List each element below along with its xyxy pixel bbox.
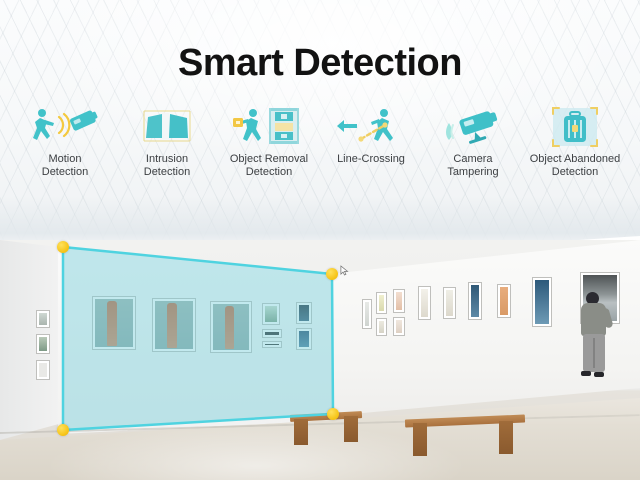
artwork-frame	[296, 328, 312, 350]
camera-tampering-icon	[435, 104, 511, 150]
page-title: Smart Detection	[0, 42, 640, 85]
artwork-frame	[532, 277, 552, 327]
artwork-frame	[36, 360, 50, 380]
motion-detection-icon	[27, 104, 103, 150]
artwork-frame	[376, 318, 387, 336]
zone-handle-top-right[interactable]	[326, 268, 338, 280]
feature-object-removal-detection[interactable]: Object Removal Detection	[218, 104, 320, 179]
artwork-frame	[36, 334, 50, 354]
artwork-column-shape	[167, 303, 177, 348]
feature-label: Camera Tampering	[447, 153, 498, 179]
intrusion-detection-icon	[129, 104, 205, 150]
zone-handle-bottom-left[interactable]	[57, 424, 69, 436]
feature-camera-tampering[interactable]: Camera Tampering	[422, 104, 524, 179]
artwork-column-shape	[107, 301, 117, 346]
artwork-frame	[393, 317, 405, 336]
smart-detection-poster: Smart Detection	[0, 0, 640, 480]
bench	[290, 413, 362, 447]
artwork-frame	[468, 282, 482, 320]
zone-handle-top-left[interactable]	[57, 241, 69, 253]
feature-line-crossing[interactable]: Line-Crossing	[320, 104, 422, 179]
artwork-frame	[497, 284, 511, 318]
feature-label: Motion Detection	[42, 153, 88, 179]
gallery-visitor	[578, 292, 614, 402]
artwork-frame	[262, 341, 282, 348]
gallery-room	[0, 240, 640, 480]
object-abandoned-icon	[537, 104, 613, 150]
feature-intrusion-detection[interactable]: Intrusion Detection	[116, 104, 218, 179]
artwork-frame	[443, 287, 456, 319]
artwork-frame	[418, 286, 431, 320]
artwork-column-shape	[225, 306, 234, 349]
line-crossing-icon	[333, 104, 409, 150]
feature-motion-detection[interactable]: Motion Detection	[14, 104, 116, 179]
bench	[405, 417, 525, 457]
artwork-frame	[376, 292, 387, 314]
artwork-frame	[296, 302, 312, 324]
mouse-cursor-icon	[340, 265, 349, 276]
feature-icon-row: Motion Detection Intrusion Detection	[0, 104, 640, 179]
feature-label: Object Abandoned Detection	[530, 153, 621, 179]
object-removal-icon	[231, 104, 307, 150]
artwork-frame	[393, 289, 405, 313]
feature-label: Intrusion Detection	[144, 153, 190, 179]
artwork-frame	[362, 299, 372, 329]
feature-label: Object Removal Detection	[230, 153, 308, 179]
artwork-frame	[36, 310, 50, 328]
zone-handle-bottom-right[interactable]	[327, 408, 339, 420]
feature-label: Line-Crossing	[337, 153, 405, 166]
artwork-frame	[262, 303, 280, 325]
artwork-frame	[262, 329, 282, 338]
feature-object-abandoned-detection[interactable]: Object Abandoned Detection	[524, 104, 626, 179]
